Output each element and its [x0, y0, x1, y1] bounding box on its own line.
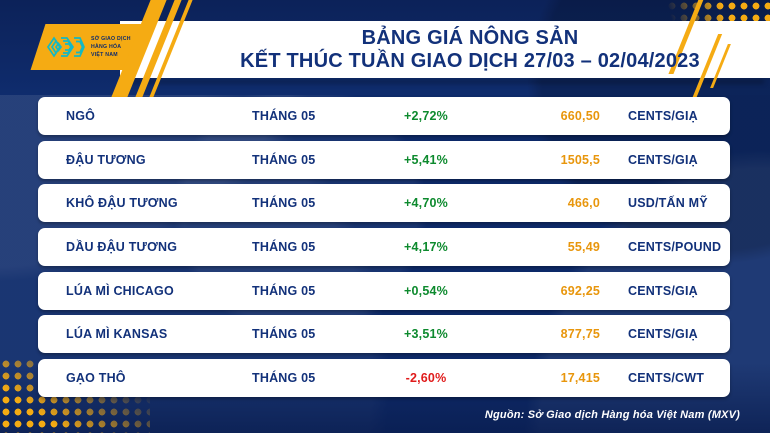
- price-unit: USD/TẤN MỸ: [600, 196, 730, 210]
- price-value: 1505,5: [482, 153, 600, 167]
- commodity-name: NGÔ: [38, 109, 252, 123]
- price-unit: CENTS/GIẠ: [600, 153, 730, 167]
- source-attribution: Nguồn: Sở Giao dịch Hàng hóa Việt Nam (M…: [485, 409, 740, 421]
- page-title: BẢNG GIÁ NÔNG SẢN KẾT THÚC TUẦN GIAO DỊC…: [190, 22, 750, 78]
- contract-month: THÁNG 05: [252, 196, 370, 210]
- header-banner-shadow: [124, 79, 764, 84]
- brand-logo-line2: HÀNG HÓA: [91, 43, 131, 51]
- table-row: ĐẬU TƯƠNGTHÁNG 05+5,41%1505,5CENTS/GIẠ: [38, 141, 730, 179]
- price-value: 55,49: [482, 240, 600, 254]
- brand-logo-line1: SỞ GIAO DỊCH: [91, 35, 131, 43]
- mxv-maze-logo-icon: [46, 33, 86, 61]
- price-table: NGÔTHÁNG 05+2,72%660,50CENTS/GIẠĐẬU TƯƠN…: [38, 97, 730, 403]
- price-value: 17,415: [482, 371, 600, 385]
- contract-month: THÁNG 05: [252, 327, 370, 341]
- title-primary: BẢNG GIÁ NÔNG SẢN: [362, 27, 579, 50]
- commodity-name: LÚA MÌ KANSAS: [38, 327, 252, 341]
- price-unit: CENTS/GIẠ: [600, 284, 730, 298]
- price-change: -2,60%: [370, 371, 482, 385]
- table-row: DẦU ĐẬU TƯƠNGTHÁNG 05+4,17%55,49CENTS/PO…: [38, 228, 730, 266]
- price-unit: CENTS/CWT: [600, 371, 730, 385]
- table-row: KHÔ ĐẬU TƯƠNGTHÁNG 05+4,70%466,0USD/TẤN …: [38, 184, 730, 222]
- price-value: 660,50: [482, 109, 600, 123]
- price-unit: CENTS/GIẠ: [600, 109, 730, 123]
- title-secondary: KẾT THÚC TUẦN GIAO DỊCH 27/03 – 02/04/20…: [240, 50, 700, 73]
- contract-month: THÁNG 05: [252, 284, 370, 298]
- commodity-name: GẠO THÔ: [38, 371, 252, 385]
- commodity-name: DẦU ĐẬU TƯƠNG: [38, 240, 252, 254]
- price-unit: CENTS/POUND: [600, 240, 730, 254]
- price-value: 692,25: [482, 284, 600, 298]
- table-row: NGÔTHÁNG 05+2,72%660,50CENTS/GIẠ: [38, 97, 730, 135]
- infographic-canvas: SỞ GIAO DỊCH HÀNG HÓA VIỆT NAM BẢNG GIÁ …: [0, 0, 770, 433]
- table-row: LÚA MÌ CHICAGOTHÁNG 05+0,54%692,25CENTS/…: [38, 272, 730, 310]
- price-change: +4,70%: [370, 196, 482, 210]
- contract-month: THÁNG 05: [252, 240, 370, 254]
- price-change: +3,51%: [370, 327, 482, 341]
- price-unit: CENTS/GIẠ: [600, 327, 730, 341]
- table-row: GẠO THÔTHÁNG 05-2,60%17,415CENTS/CWT: [38, 359, 730, 397]
- commodity-name: ĐẬU TƯƠNG: [38, 153, 252, 167]
- price-value: 877,75: [482, 327, 600, 341]
- price-change: +2,72%: [370, 109, 482, 123]
- contract-month: THÁNG 05: [252, 109, 370, 123]
- brand-logo-line3: VIỆT NAM: [91, 51, 131, 59]
- contract-month: THÁNG 05: [252, 153, 370, 167]
- contract-month: THÁNG 05: [252, 371, 370, 385]
- commodity-name: KHÔ ĐẬU TƯƠNG: [38, 196, 252, 210]
- price-change: +4,17%: [370, 240, 482, 254]
- commodity-name: LÚA MÌ CHICAGO: [38, 284, 252, 298]
- price-change: +5,41%: [370, 153, 482, 167]
- price-change: +0,54%: [370, 284, 482, 298]
- table-row: LÚA MÌ KANSASTHÁNG 05+3,51%877,75CENTS/G…: [38, 315, 730, 353]
- price-value: 466,0: [482, 196, 600, 210]
- brand-logo-text: SỞ GIAO DỊCH HÀNG HÓA VIỆT NAM: [91, 35, 131, 59]
